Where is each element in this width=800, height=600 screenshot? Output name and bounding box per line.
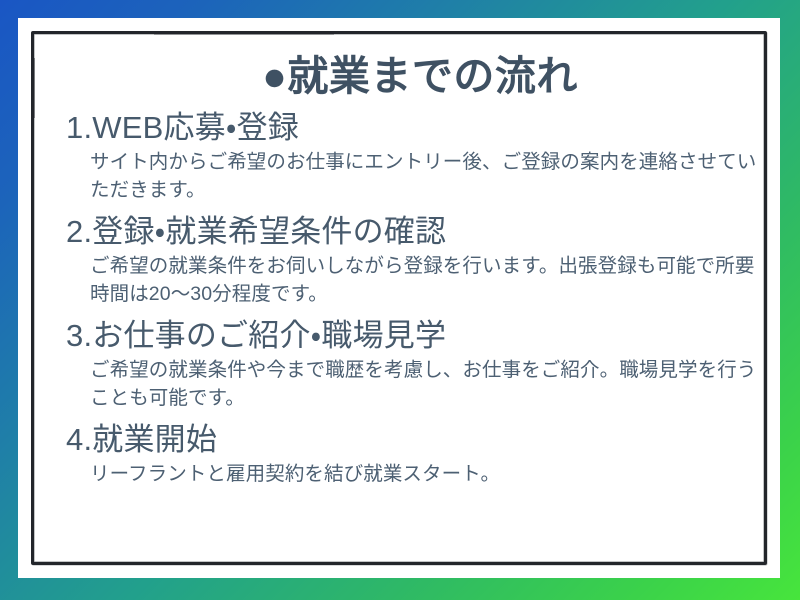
list-item: 2.登録・就業希望条件の確認 ご希望の就業条件をお伺いしながら登録を行います。出… bbox=[66, 213, 774, 308]
list-item: 1.WEB応募・登録 サイト内からご希望のお仕事にエントリー後、ご登録の案内を連… bbox=[66, 109, 774, 204]
page-title: ●就業までの流れ bbox=[66, 52, 774, 100]
slide-content: ●就業までの流れ 1.WEB応募・登録 サイト内からご希望のお仕事にエントリー後… bbox=[48, 48, 788, 584]
list-item: 4.就業開始 リーフラントと雇用契約を結び就業スタート。 bbox=[66, 421, 774, 488]
step-body-4: リーフラントと雇用契約を結び就業スタート。 bbox=[66, 460, 774, 488]
step-body-3: ご希望の就業条件や今まで職歴を考慮し、お仕事をご紹介。職場見学を行うことも可能で… bbox=[66, 356, 774, 412]
steps-list: 1.WEB応募・登録 サイト内からご希望のお仕事にエントリー後、ご登録の案内を連… bbox=[66, 109, 774, 488]
slide-background: ●就業までの流れ 1.WEB応募・登録 サイト内からご希望のお仕事にエントリー後… bbox=[0, 0, 800, 600]
list-item: 3.お仕事のご紹介・職場見学 ご希望の就業条件や今まで職歴を考慮し、お仕事をご紹… bbox=[66, 317, 774, 412]
step-heading-4: 4.就業開始 bbox=[66, 421, 774, 459]
step-heading-2: 2.登録・就業希望条件の確認 bbox=[66, 213, 774, 251]
step-heading-1: 1.WEB応募・登録 bbox=[66, 109, 774, 147]
step-body-1: サイト内からご希望のお仕事にエントリー後、ご登録の案内を連絡させていただきます。 bbox=[66, 148, 774, 204]
step-body-2: ご希望の就業条件をお伺いしながら登録を行います。出張登録も可能で所要時間は20〜… bbox=[66, 252, 774, 308]
step-heading-3: 3.お仕事のご紹介・職場見学 bbox=[66, 317, 774, 355]
content-card: ●就業までの流れ 1.WEB応募・登録 サイト内からご希望のお仕事にエントリー後… bbox=[18, 18, 780, 578]
